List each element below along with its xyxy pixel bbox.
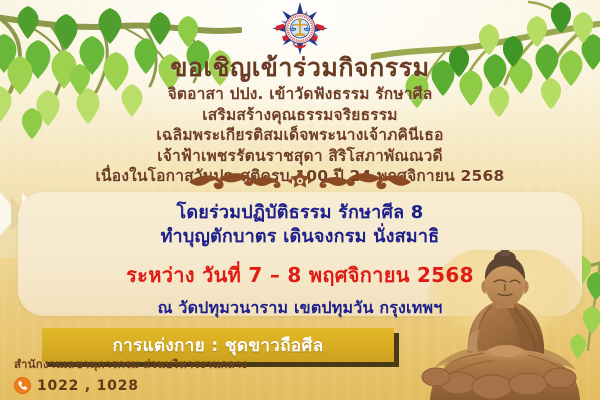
event-invitation-poster: ขอเชิญเข้าร่วมกิจกรรม จิตอาสา ปปง. เข้าว…: [0, 0, 600, 400]
footer-organization: สำนักงานเลขานุการกรม ส่วนบริหารงานกลาง: [14, 356, 247, 374]
subtitle-line-2: เสริมสร้างคุณธรรมจริยธรรม: [0, 105, 600, 126]
event-date-line: ระหว่าง วันที่ 7 – 8 พฤศจิกายน 2568: [18, 259, 582, 291]
footer-contact: สำนักงานเลขานุการกรม ส่วนบริหารงานกลาง 1…: [14, 356, 247, 394]
page-title: ขอเชิญเข้าร่วมกิจกรรม: [0, 54, 600, 81]
activity-line-1: โดยร่วมปฏิบัติธรรม รักษาศีล 8: [18, 201, 582, 225]
event-location-line: ณ วัดปทุมวนาราม เขตปทุมวัน กรุงเทพฯ: [18, 296, 582, 321]
phone-icon: [14, 377, 31, 394]
subtitle-line-4: เจ้าฟ้าเพชรรัตนราชสุดา สิริโสภาพัณณวดี: [0, 146, 600, 167]
subtitle-line-3: เฉลิมพระเกียรติสมเด็จพระนางเจ้าภคินีเธอ: [0, 125, 600, 146]
thai-ornament-divider-icon: [185, 168, 415, 194]
subtitle-line-1: จิตอาสา ปปง. เข้าวัดฟังธรรม รักษาศีล: [0, 84, 600, 105]
footer-phone-number: 1022 , 1028: [37, 378, 139, 394]
activity-line-2: ทำบุญตักบาตร เดินจงกรม นั่งสมาธิ: [18, 225, 582, 249]
dress-code-text: การแต่งกาย : ชุดขาวถือศีล: [112, 332, 323, 359]
nacc-emblem-icon: [269, 2, 331, 56]
footer-phone-row: 1022 , 1028: [14, 377, 247, 394]
